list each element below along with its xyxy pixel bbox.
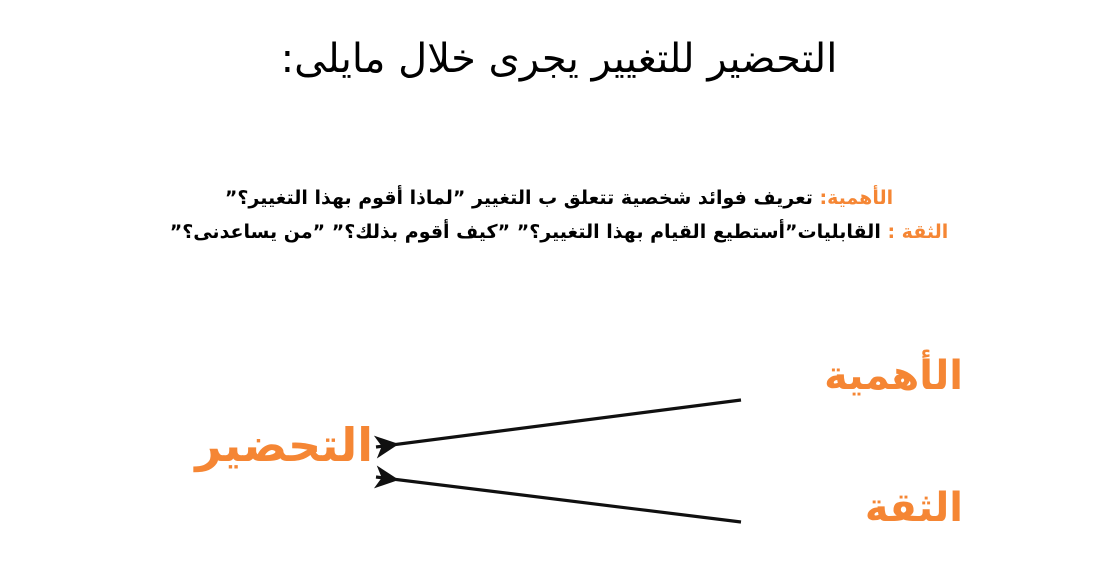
arrow-confidence-to-preparation — [376, 477, 741, 522]
body-line-importance-label: الأهمية: — [820, 187, 894, 209]
body-text-block: الأهمية: تعريف فوائد شخصية تتعلق ب التغي… — [0, 182, 1118, 250]
body-line-confidence: الثقة : القابليات”أستطيع القيام بهذا الت… — [0, 216, 1118, 250]
body-line-confidence-text: القابليات”أستطيع القيام بهذا التغيير؟” ”… — [170, 221, 888, 243]
diagram-label-confidence: الثقة — [865, 488, 963, 528]
diagram-label-importance: الأهمية — [824, 356, 963, 396]
page-title: التحضير للتغيير يجرى خلال مايلى: — [0, 34, 1118, 84]
body-line-importance: الأهمية: تعريف فوائد شخصية تتعلق ب التغي… — [0, 182, 1118, 216]
body-line-importance-text: تعريف فوائد شخصية تتعلق ب التغيير ”لماذا… — [225, 187, 820, 209]
arrow-importance-to-preparation — [376, 400, 741, 447]
slide-canvas: التحضير للتغيير يجرى خلال مايلى: الأهمية… — [0, 0, 1118, 580]
diagram-converging-arrows: الأهمية الثقة التحضير — [0, 340, 1118, 580]
diagram-label-preparation: التحضير — [195, 422, 373, 468]
body-line-confidence-label: الثقة : — [887, 221, 948, 243]
